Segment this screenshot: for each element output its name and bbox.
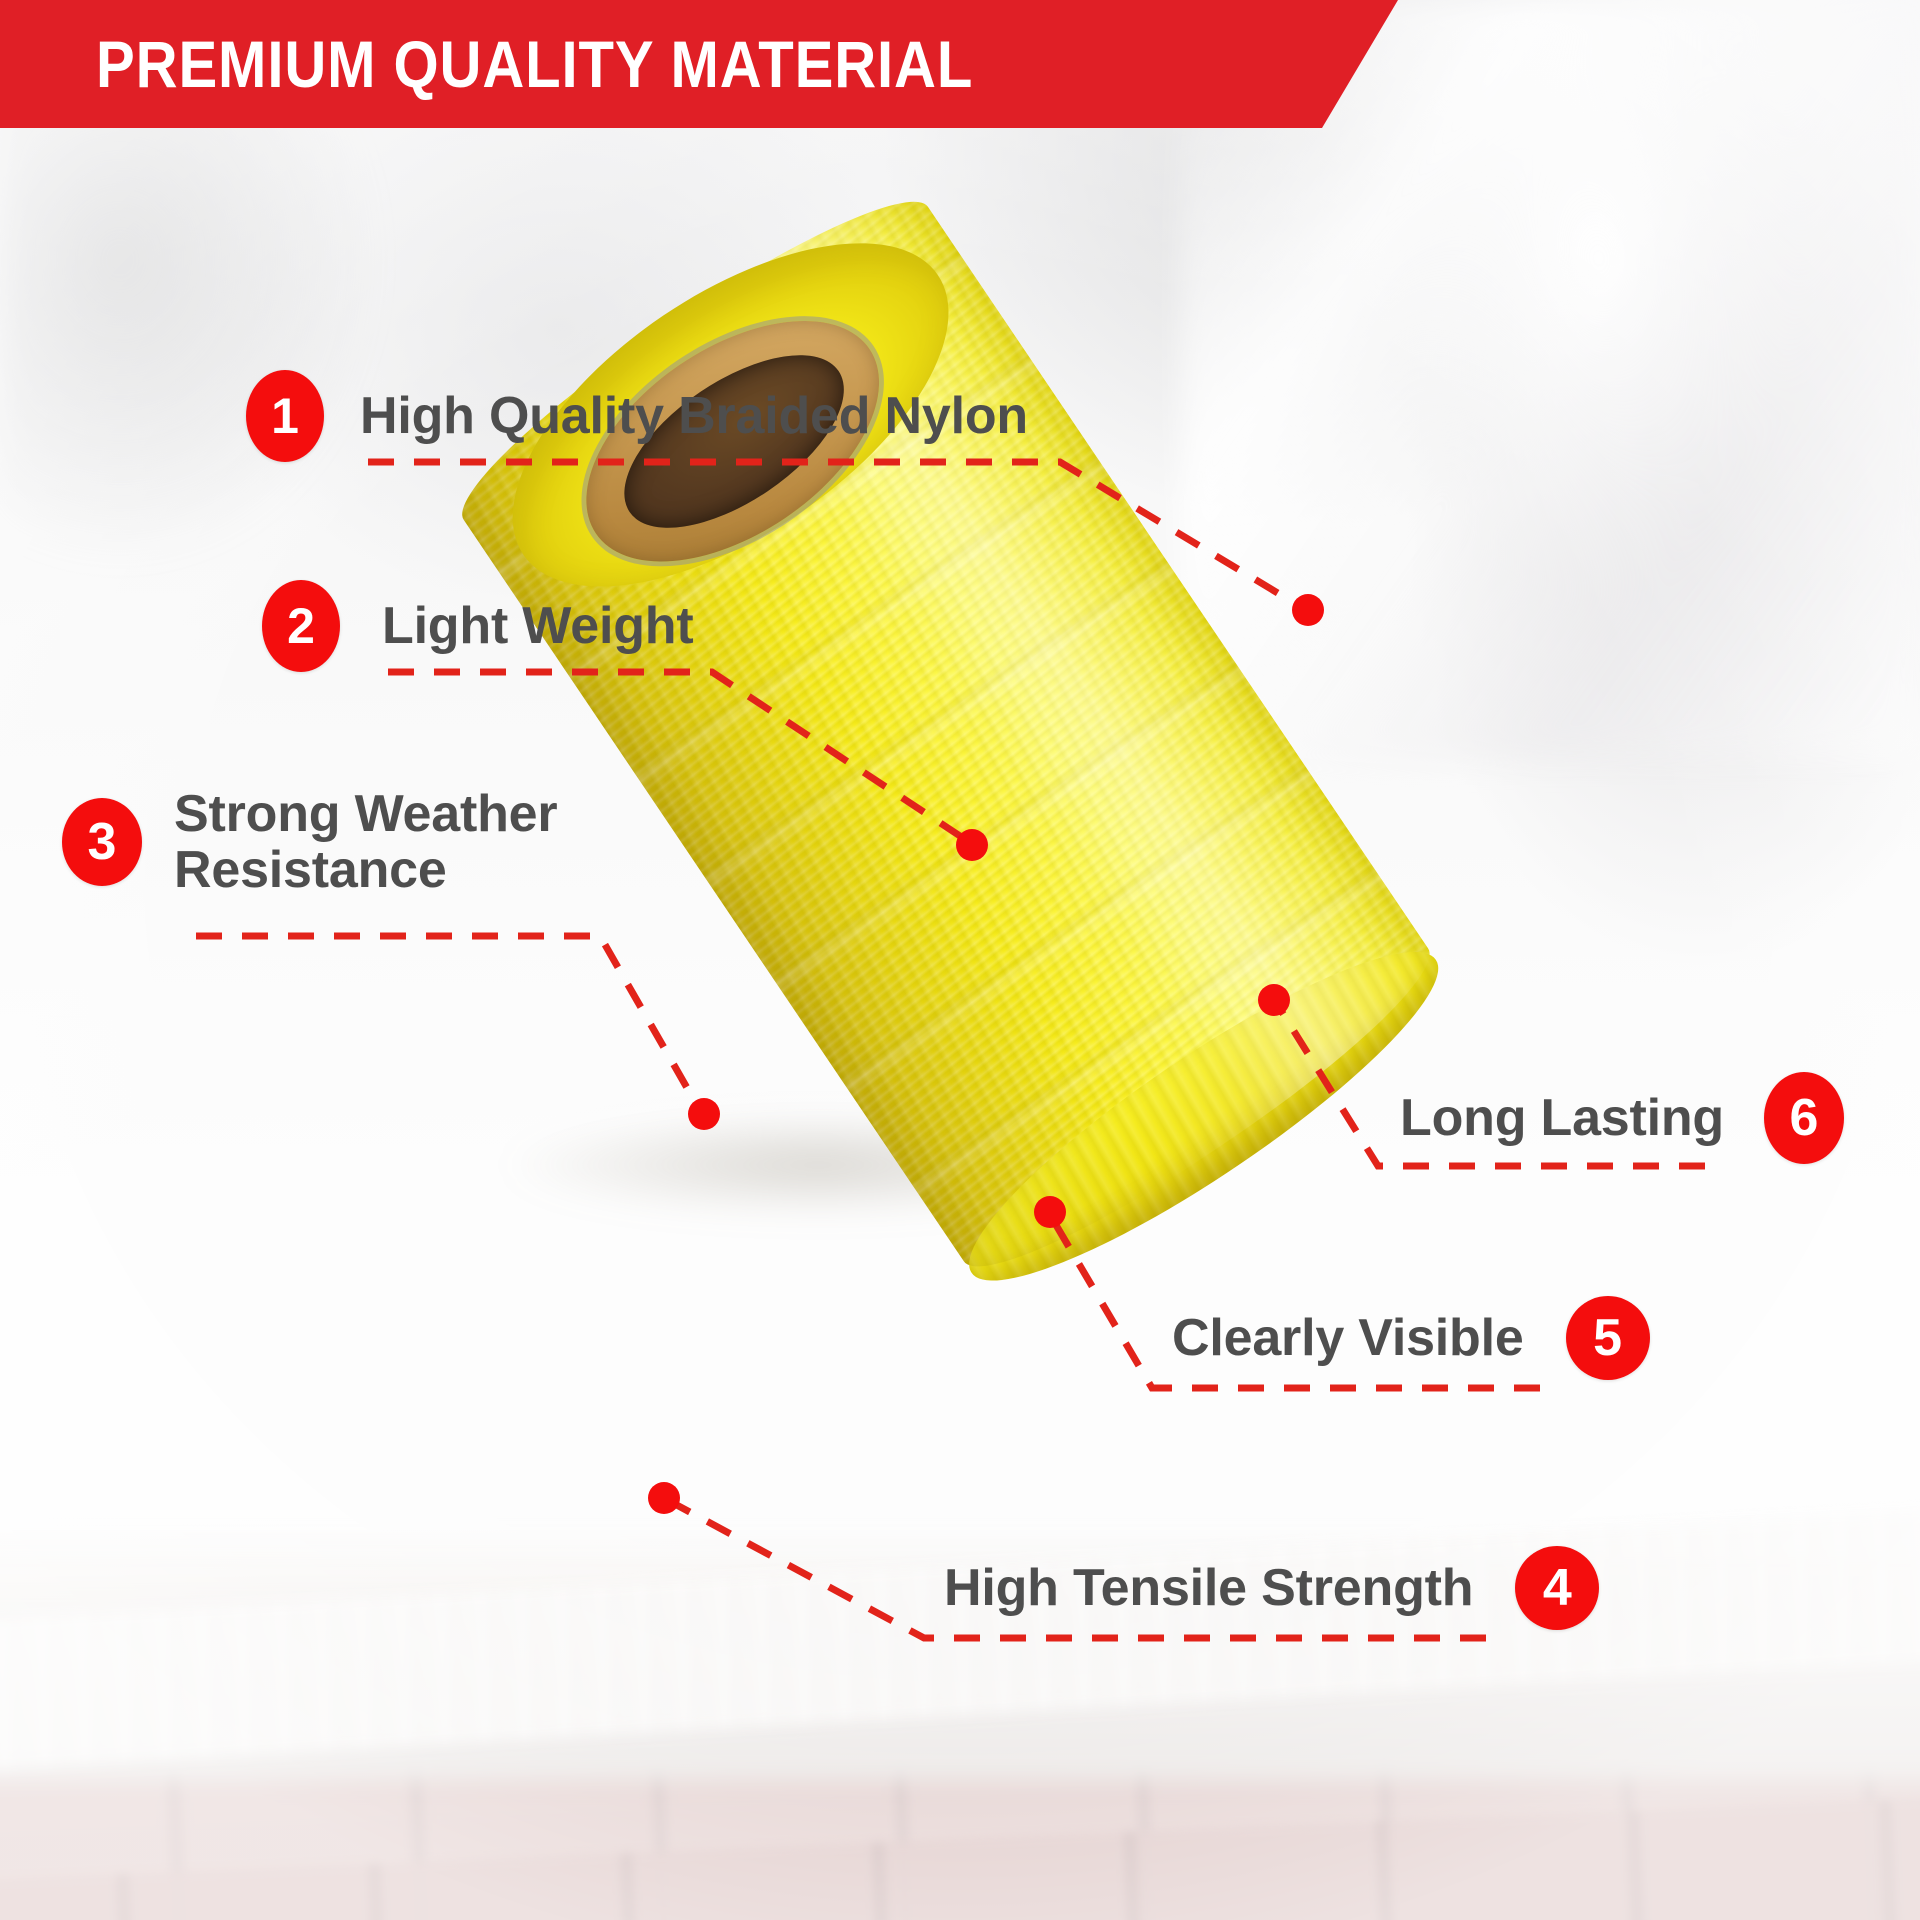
callout-badge-6[interactable]: 6: [1764, 1072, 1844, 1164]
callout-badge-3[interactable]: 3: [62, 798, 142, 886]
callout-label-3-line2: Resistance: [174, 842, 557, 898]
callout-label-3-line1: Strong Weather: [174, 786, 557, 842]
callout-label-4: High Tensile Strength: [944, 1560, 1473, 1616]
callout-badge-2[interactable]: 2: [262, 580, 340, 672]
callout-2: 2 Light Weight: [262, 580, 693, 672]
callout-badge-5[interactable]: 5: [1566, 1296, 1650, 1380]
callout-badge-4[interactable]: 4: [1515, 1546, 1599, 1630]
callout-number-3: 3: [88, 816, 117, 868]
callout-number-1: 1: [271, 391, 299, 441]
page-title: PREMIUM QUALITY MATERIAL: [96, 31, 973, 97]
header-banner: PREMIUM QUALITY MATERIAL: [0, 0, 1398, 128]
callout-4: High Tensile Strength 4: [944, 1546, 1599, 1630]
callout-label-5: Clearly Visible: [1172, 1310, 1524, 1366]
callout-number-4: 4: [1543, 1562, 1572, 1614]
callout-label-2: Light Weight: [382, 598, 693, 654]
callout-number-6: 6: [1790, 1092, 1819, 1144]
callout-1: 1 High Quality Braided Nylon: [246, 370, 1028, 462]
callout-6: Long Lasting 6: [1400, 1072, 1844, 1164]
callout-number-2: 2: [287, 601, 315, 651]
callout-label-3: Strong Weather Resistance: [174, 786, 557, 898]
callout-label-6: Long Lasting: [1400, 1090, 1724, 1146]
callout-label-1: High Quality Braided Nylon: [360, 388, 1028, 444]
callout-3: 3 Strong Weather Resistance: [62, 786, 557, 898]
infographic-canvas: PREMIUM QUALITY MATERIAL 1 High Quality …: [0, 0, 1920, 1920]
product-image: [248, 390, 1448, 1450]
callout-number-5: 5: [1593, 1312, 1622, 1364]
callout-5: Clearly Visible 5: [1172, 1296, 1650, 1380]
callout-badge-1[interactable]: 1: [246, 370, 324, 462]
